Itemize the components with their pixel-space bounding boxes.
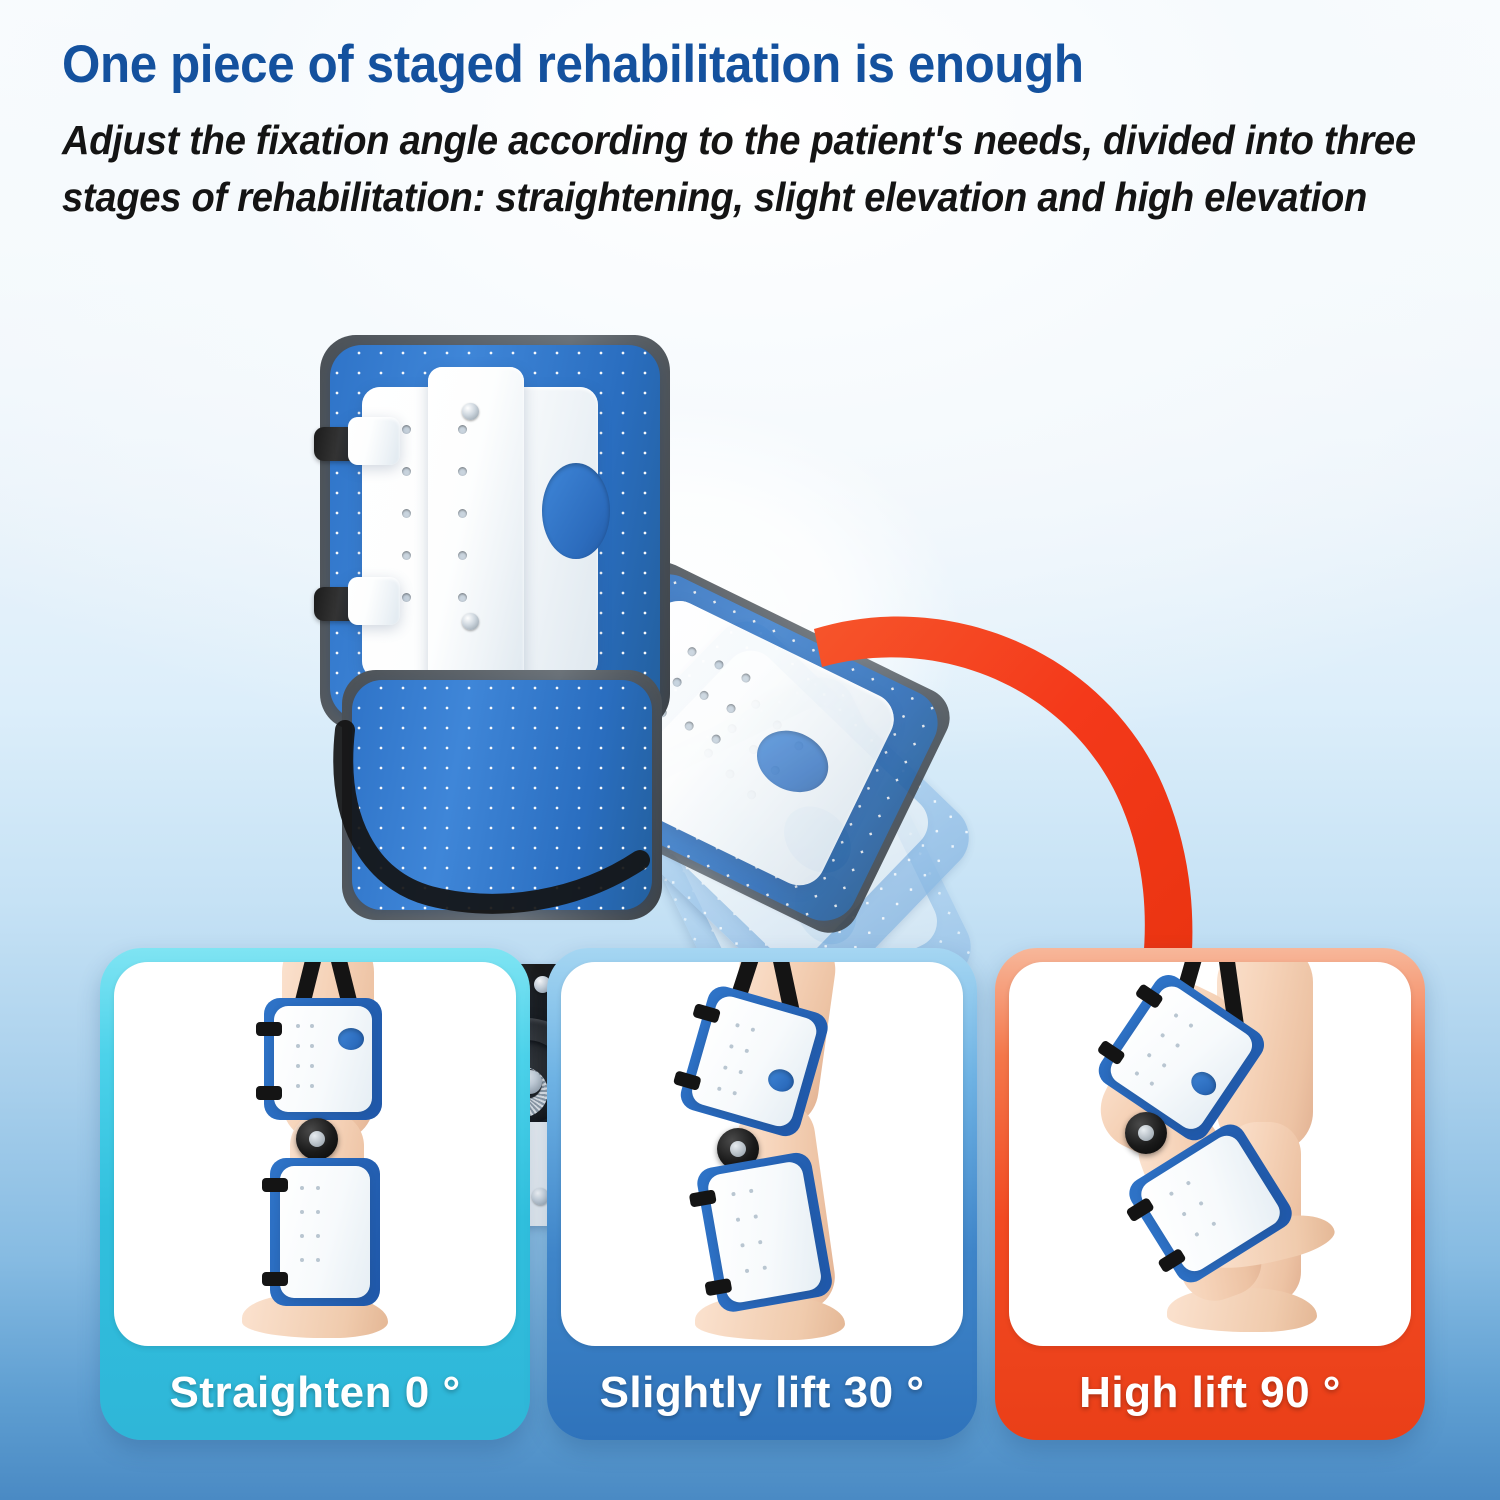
stage-photo-straighten — [114, 962, 516, 1346]
cuff-rivet-top — [462, 403, 479, 420]
stage-cards: Straighten 0 ° — [0, 948, 1500, 1448]
page-title: One piece of staged rehabilitation is en… — [62, 34, 1355, 96]
cuff-blue-window — [542, 463, 610, 559]
hero-product-image — [0, 300, 1500, 960]
brace-lower-cuff — [352, 680, 652, 920]
page-subtitle: Adjust the fixation angle according to t… — [62, 112, 1438, 226]
stage-card-slight-lift[interactable]: Slightly lift 30 ° — [547, 948, 977, 1440]
stage-label-straighten: Straighten 0 ° — [100, 1346, 530, 1440]
mini-hinge-icon — [1125, 1112, 1167, 1154]
cuff-strap-buckle-upper — [348, 417, 400, 465]
cuff-strap-buckle-lower — [348, 577, 400, 625]
infographic-page: One piece of staged rehabilitation is en… — [0, 0, 1500, 1500]
stage-photo-high-lift — [1009, 962, 1411, 1346]
stage-label-slight-lift: Slightly lift 30 ° — [547, 1346, 977, 1440]
cuff-rivet-bottom — [462, 613, 479, 630]
stage-card-high-lift[interactable]: High lift 90 ° — [995, 948, 1425, 1440]
stage-card-straighten[interactable]: Straighten 0 ° — [100, 948, 530, 1440]
mini-hinge-icon — [296, 1118, 338, 1160]
stage-photo-slight-lift — [561, 962, 963, 1346]
brace-upper-cuff — [330, 345, 660, 720]
stage-label-high-lift: High lift 90 ° — [995, 1346, 1425, 1440]
heading-block: One piece of staged rehabilitation is en… — [62, 34, 1452, 226]
